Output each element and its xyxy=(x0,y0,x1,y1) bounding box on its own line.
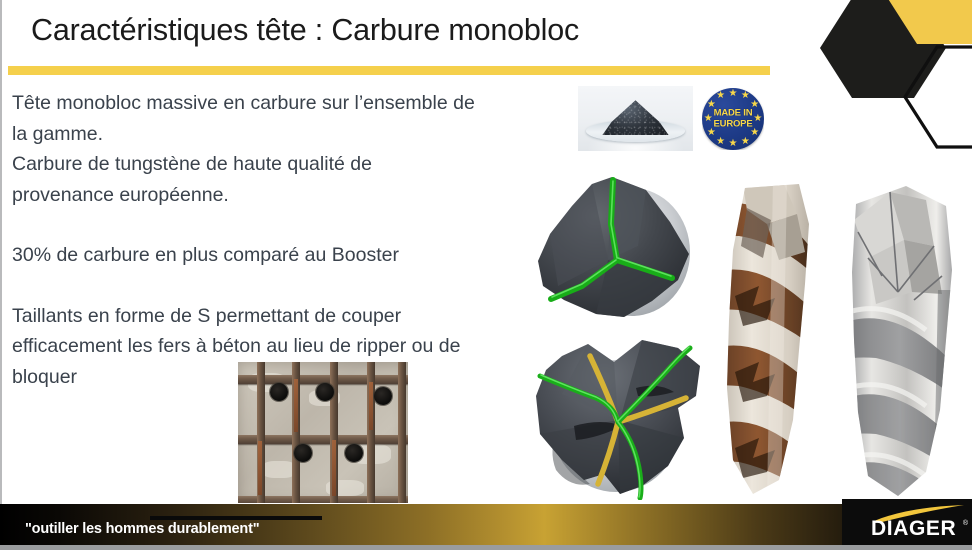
drill-bit-worn-image xyxy=(713,180,823,502)
body-line-4: provenance européenne. xyxy=(12,180,552,211)
page-title: Caractéristiques tête : Carbure monobloc xyxy=(31,9,579,51)
diager-wordmark: DIAGER xyxy=(871,518,956,539)
star-icon: ★ xyxy=(729,89,738,99)
star-icon: ★ xyxy=(729,139,738,149)
paragraph-gap-2 xyxy=(12,271,552,301)
powder-pile xyxy=(602,100,669,135)
drill-bit-new-image xyxy=(842,180,960,502)
star-icon: ★ xyxy=(716,91,725,101)
drilled-hole xyxy=(374,387,392,405)
hexagon-black-icon xyxy=(820,0,946,98)
footer-tagline: "outiller les hommes durablement" xyxy=(25,521,259,537)
carbide-powder-image xyxy=(578,86,693,151)
made-in-europe-badge: ★ ★ ★ ★ ★ ★ ★ ★ ★ ★ ★ ★ MADE IN EUROPE xyxy=(702,88,764,150)
star-icon: ★ xyxy=(716,137,725,147)
body-line-3: Carbure de tungstène de haute qualité de xyxy=(12,149,552,180)
slide-bottom-edge xyxy=(0,545,972,550)
badge-text-line-1: MADE IN xyxy=(702,109,764,120)
rust-streak xyxy=(258,441,262,495)
rust-streak xyxy=(369,382,373,430)
registered-trademark-icon: ® xyxy=(963,520,968,527)
carbide-head-s-shape-image xyxy=(518,334,718,500)
hexagon-yellow-icon xyxy=(885,0,972,44)
drilled-hole xyxy=(294,444,312,462)
body-copy: Tête monobloc massive en carbure sur l’e… xyxy=(12,88,552,392)
paragraph-gap-1 xyxy=(12,210,552,240)
badge-text: MADE IN EUROPE xyxy=(702,109,764,130)
rust-streak xyxy=(332,440,336,496)
diager-logo: DIAGER ® xyxy=(842,499,972,545)
rust-streak xyxy=(294,379,298,433)
carbide-head-green-image xyxy=(520,168,710,336)
hexagon-outline-icon xyxy=(905,47,972,147)
concrete-rebar-image xyxy=(238,362,408,503)
star-icon: ★ xyxy=(741,137,750,147)
body-line-2: la gamme. xyxy=(12,119,552,150)
rebar-vertical xyxy=(398,362,406,503)
bit-body xyxy=(842,180,960,502)
body-line-5: 30% de carbure en plus comparé au Booste… xyxy=(12,240,552,271)
drilled-hole xyxy=(345,444,363,462)
footer-black-bar xyxy=(150,516,322,520)
footer-band: "outiller les hommes durablement" xyxy=(0,504,972,545)
body-line-6: Taillants en forme de S permettant de co… xyxy=(12,301,552,332)
bit-body xyxy=(713,180,823,502)
drilled-hole xyxy=(270,383,288,401)
slide-canvas: Caractéristiques tête : Carbure monobloc… xyxy=(0,0,972,550)
star-icon: ★ xyxy=(741,91,750,101)
hexagon-decoration xyxy=(792,0,972,170)
body-line-7: efficacement les fers à béton au lieu de… xyxy=(12,331,552,362)
badge-text-line-2: EUROPE xyxy=(702,119,764,130)
aggregate-stone xyxy=(262,461,296,478)
body-line-1: Tête monobloc massive en carbure sur l’e… xyxy=(12,88,552,119)
title-underline-rule xyxy=(8,66,770,75)
slide-left-edge xyxy=(0,0,2,550)
